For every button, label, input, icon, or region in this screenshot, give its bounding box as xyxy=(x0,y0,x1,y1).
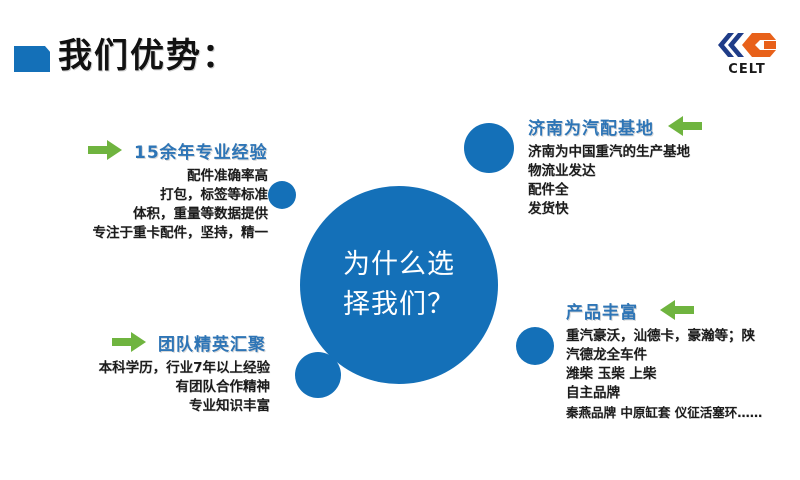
advantage-line: 汽德龙全车件 xyxy=(566,346,800,365)
advantage-heading-row-base: 济南为汽配基地 xyxy=(528,114,800,138)
advantage-body-team: 本科学历，行业7年以上经验 有团队合作精神 专业知识丰富 xyxy=(0,359,300,416)
advantage-line: 专注于重卡配件，坚持，精一 xyxy=(0,224,268,243)
advantage-line: 潍柴 玉柴 上柴 xyxy=(566,365,800,384)
advantage-heading-base: 济南为汽配基地 xyxy=(528,114,654,139)
center-circle-label: 为什么选 择我们？ xyxy=(339,245,459,325)
advantage-block-base: 济南为汽配基地 济南为中国重汽的生产基地 物流业发达 配件全 发货快 xyxy=(528,114,800,219)
advantage-line: 济南为中国重汽的生产基地 xyxy=(528,143,800,162)
advantage-block-experience: 15余年专业经验 配件准确率高 打包，标签等标准 体积，重量等数据提供 专注于重… xyxy=(0,138,300,243)
advantage-line: 配件全 xyxy=(528,181,800,200)
advantage-heading-experience: 15余年专业经验 xyxy=(134,138,268,163)
arrow-right-icon xyxy=(112,332,146,352)
celt-logo-mark xyxy=(708,28,786,62)
advantage-heading-row-products: 产品丰富 xyxy=(566,298,800,322)
center-circle: 为什么选 择我们？ xyxy=(300,186,498,384)
advantage-body-base: 济南为中国重汽的生产基地 物流业发达 配件全 发货快 xyxy=(528,143,800,219)
advantage-heading-row-team: 团队精英汇聚 xyxy=(0,330,300,354)
arrow-right-icon xyxy=(88,140,122,160)
arrow-left-icon xyxy=(660,300,694,320)
advantage-body-experience: 配件准确率高 打包，标签等标准 体积，重量等数据提供 专注于重卡配件，坚持，精一 xyxy=(0,167,300,243)
arrow-left-icon xyxy=(668,116,702,136)
advantage-line: 打包，标签等标准 xyxy=(0,186,268,205)
advantage-line: 发货快 xyxy=(528,200,800,219)
advantage-line: 物流业发达 xyxy=(528,162,800,181)
advantage-line: 体积，重量等数据提供 xyxy=(0,205,268,224)
advantage-body-products: 重汽豪沃，汕德卡，豪瀚等；陕 汽德龙全车件 潍柴 玉柴 上柴 自主品牌 秦燕品牌… xyxy=(566,327,800,422)
celt-logo-text: CELT xyxy=(708,62,786,77)
advantage-line: 有团队合作精神 xyxy=(0,378,270,397)
decorative-dot-bottom-right xyxy=(516,327,554,365)
header: 我们优势： xyxy=(0,30,800,90)
center-circle-line-2: 择我们？ xyxy=(339,285,459,325)
slide-canvas: 我们优势： CELT 为什么选 择我们？ 15余年专业经验 xyxy=(0,0,800,480)
advantage-heading-team: 团队精英汇聚 xyxy=(158,330,266,355)
advantage-block-products: 产品丰富 重汽豪沃，汕德卡，豪瀚等；陕 汽德龙全车件 潍柴 玉柴 上柴 自主品牌… xyxy=(566,298,800,422)
celt-logo: CELT xyxy=(708,28,786,80)
advantage-line: 本科学历，行业7年以上经验 xyxy=(0,359,270,378)
advantage-line: 秦燕品牌 中原缸套 仪征活塞环…… xyxy=(566,403,800,422)
advantage-heading-products: 产品丰富 xyxy=(566,298,638,323)
advantage-block-team: 团队精英汇聚 本科学历，行业7年以上经验 有团队合作精神 专业知识丰富 xyxy=(0,330,300,416)
advantage-heading-row-experience: 15余年专业经验 xyxy=(0,138,300,162)
title-marker-shape xyxy=(14,46,50,72)
advantage-line: 专业知识丰富 xyxy=(0,397,270,416)
decorative-dot-top-right xyxy=(464,123,514,173)
page-title: 我们优势： xyxy=(58,33,238,79)
center-circle-line-1: 为什么选 xyxy=(339,245,459,285)
advantage-line: 重汽豪沃，汕德卡，豪瀚等；陕 xyxy=(566,327,800,346)
advantage-line: 配件准确率高 xyxy=(0,167,268,186)
advantage-line: 自主品牌 xyxy=(566,384,800,403)
